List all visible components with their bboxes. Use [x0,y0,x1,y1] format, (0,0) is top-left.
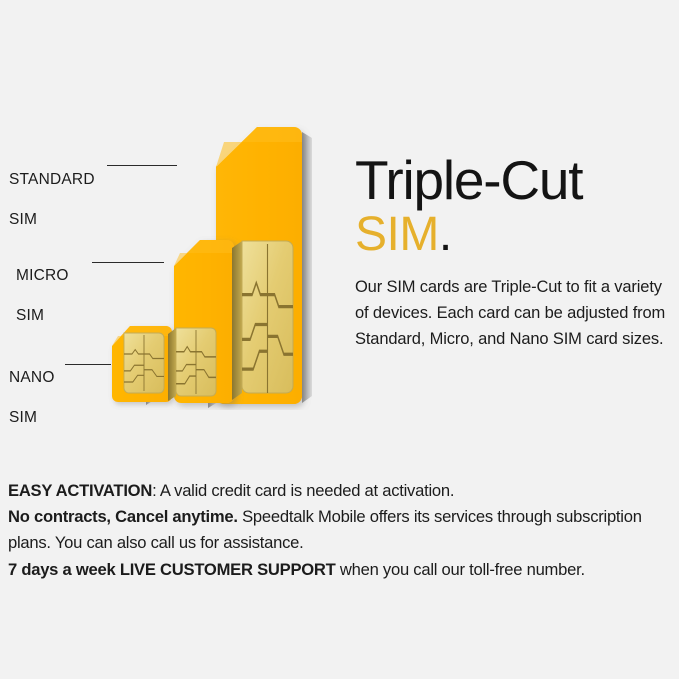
micro-sim-chip [168,328,216,401]
callout-label-micro: MICRO SIM [16,246,69,347]
footer-line-2-bold: No contracts, Cancel anytime. [8,507,238,526]
footer-line-3-bold: 7 days a week LIVE CUSTOMER SUPPORT [8,560,336,579]
page-subtitle: SIM. [355,210,675,260]
page-subtitle-dot: . [439,208,452,261]
callout-standard-line2: SIM [9,210,95,230]
nano-sim-chip [124,333,164,393]
headline-block: Triple-Cut SIM. [355,152,675,260]
callout-nano-line1: NANO [9,368,55,388]
page-subtitle-text: SIM [355,208,439,261]
standard-sim-chip [232,241,293,400]
footer-line-3-rest: when you call our toll-free number. [336,560,585,579]
callout-nano-line2: SIM [9,408,55,428]
footer-line-3: 7 days a week LIVE CUSTOMER SUPPORT when… [8,557,674,583]
headline-description: Our SIM cards are Triple-Cut to fit a va… [355,274,673,352]
callout-label-nano: NANO SIM [9,348,55,449]
page-title: Triple-Cut [355,152,675,208]
triple-cut-sim-illustration [90,120,340,410]
product-infographic: STANDARD SIM MICRO SIM NANO SIM [0,0,679,679]
footer-line-2: No contracts, Cancel anytime. Speedtalk … [8,504,674,556]
callout-micro-line1: MICRO [16,266,69,286]
footer-line-1-bold: EASY ACTIVATION [8,481,152,500]
footer-line-1: EASY ACTIVATION: A valid credit card is … [8,478,674,504]
callout-label-standard: STANDARD SIM [9,150,95,251]
footer-line-1-rest: : A valid credit card is needed at activ… [152,481,454,500]
footer-copy-block: EASY ACTIVATION: A valid credit card is … [8,478,674,583]
callout-standard-line1: STANDARD [9,170,95,190]
callout-micro-line2: SIM [16,306,69,326]
